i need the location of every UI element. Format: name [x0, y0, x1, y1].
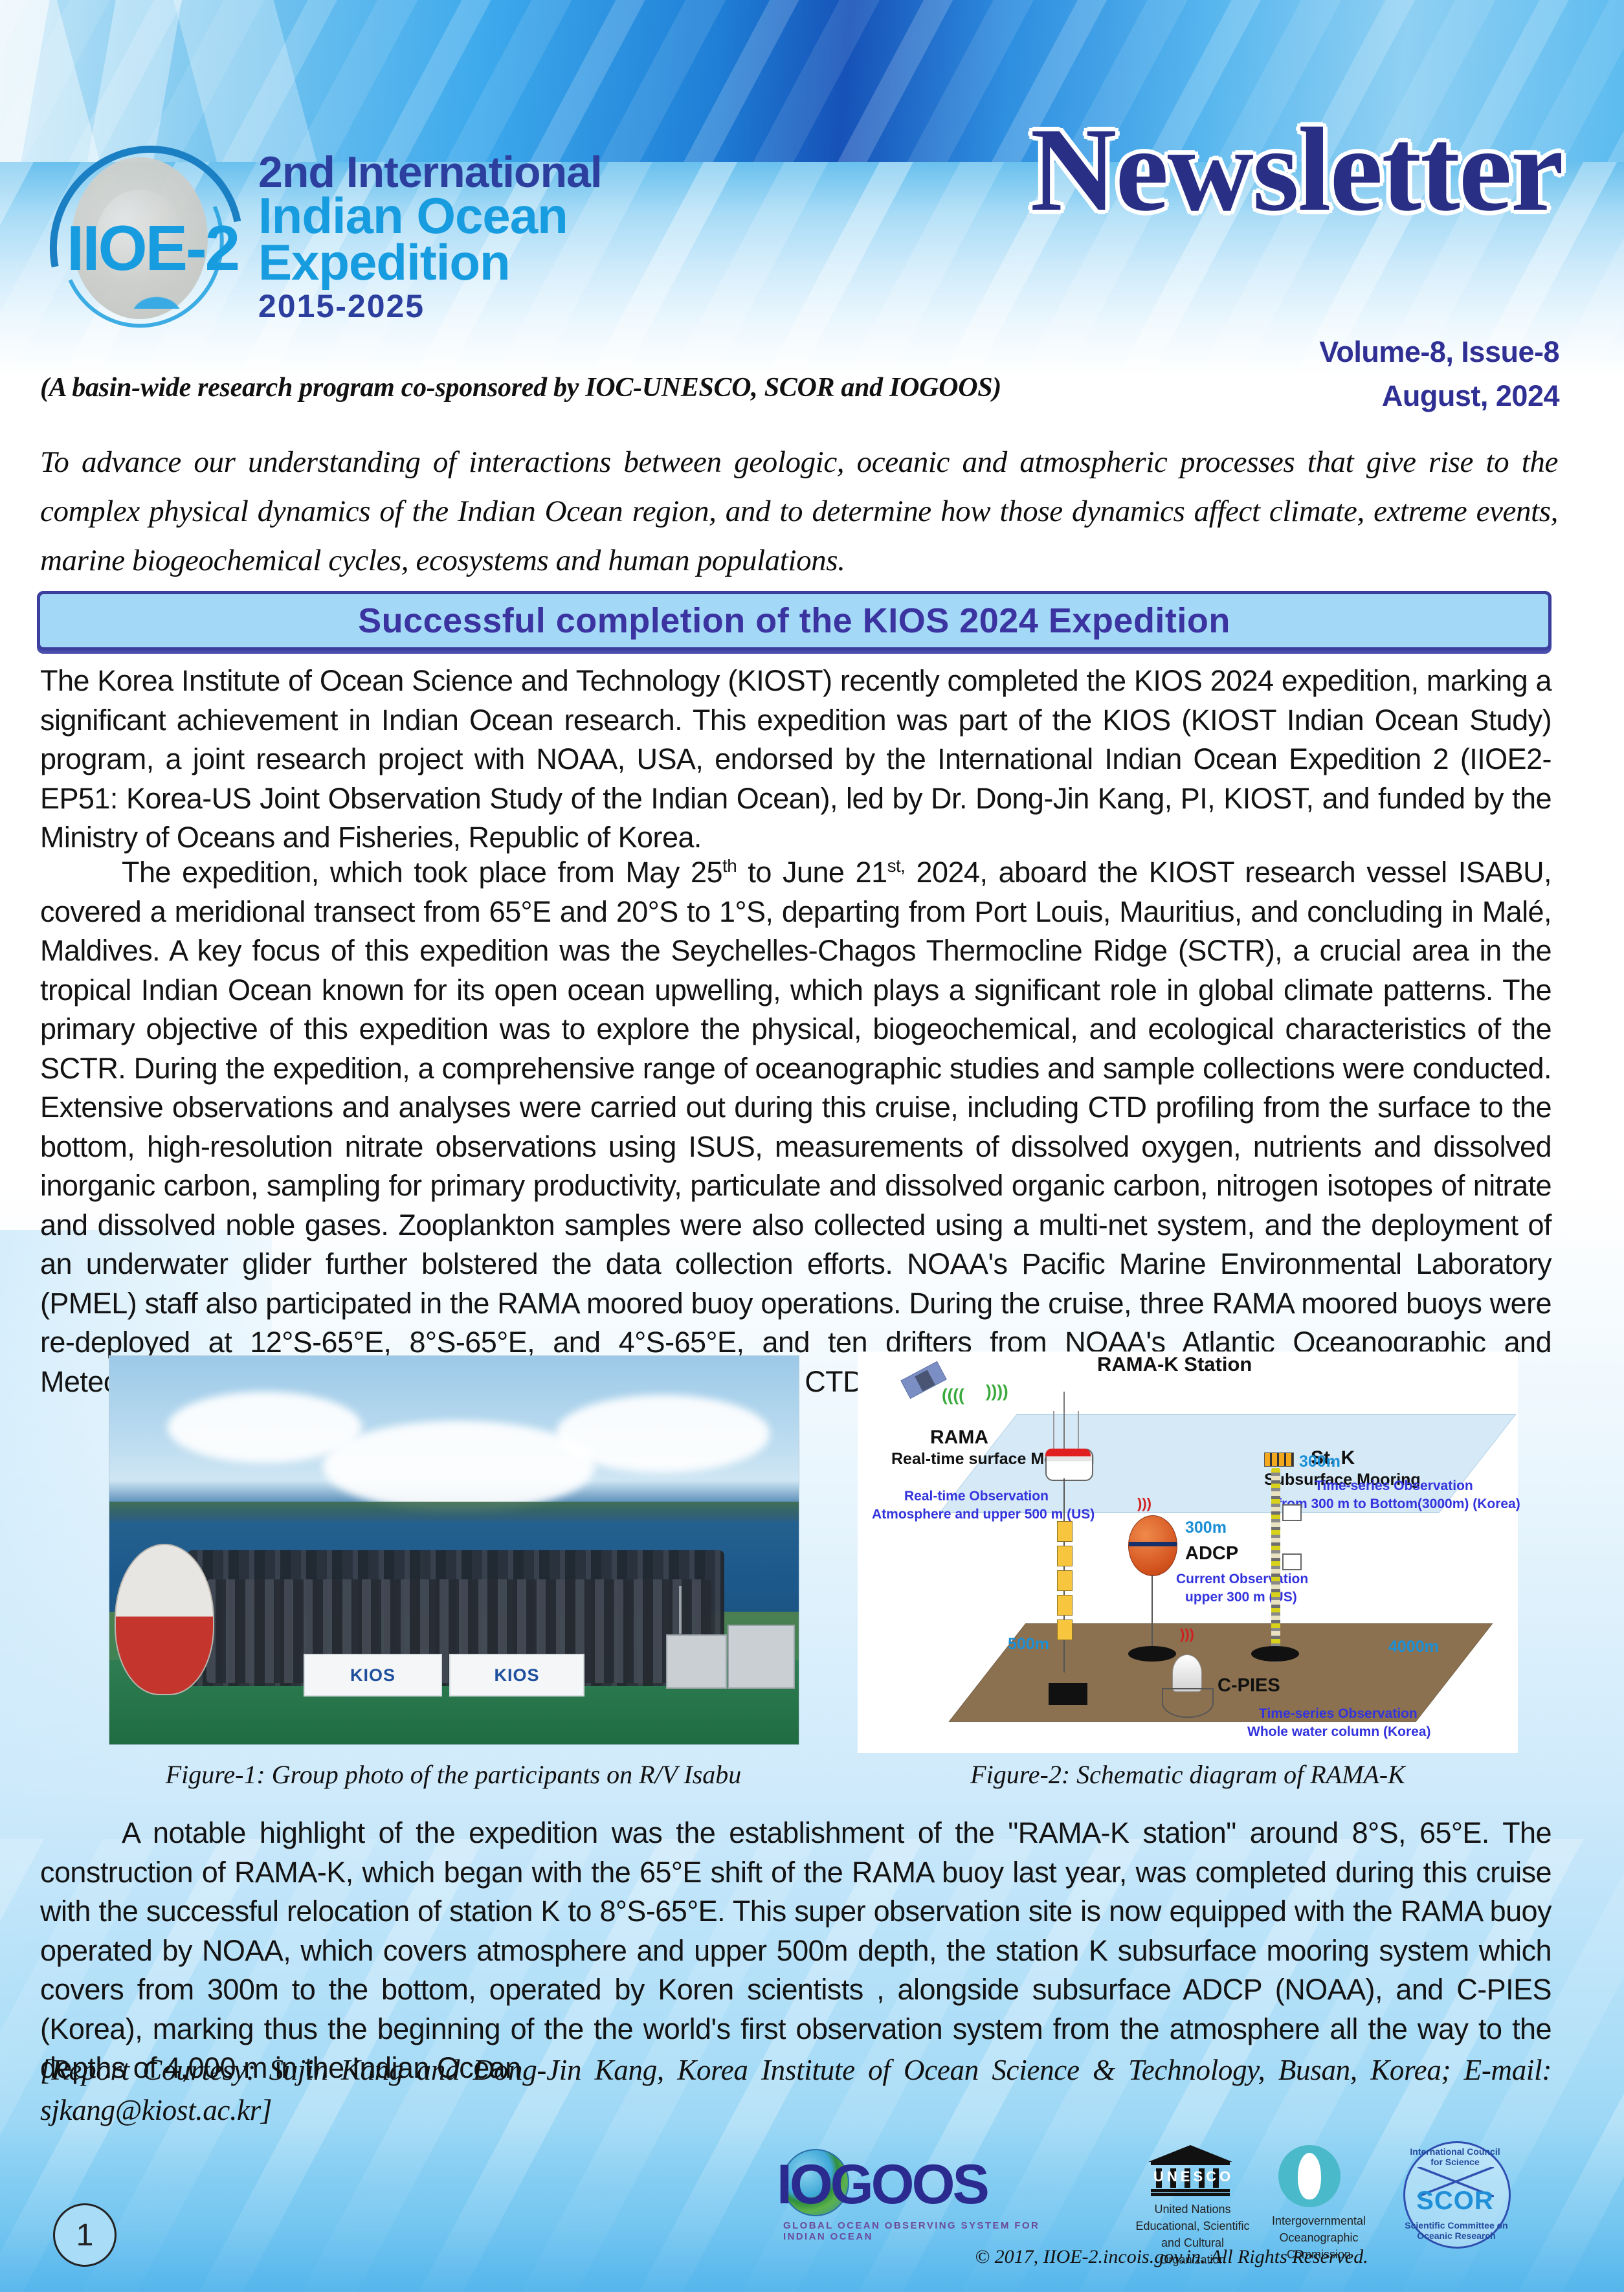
article-paragraph-3: A notable highlight of the expedition wa…	[40, 1814, 1552, 2088]
p2-part-a: The expedition, which took place from Ma…	[122, 856, 722, 889]
sponsor-line: (A basin-wide research program co-sponso…	[40, 372, 1076, 403]
adcp-signal-icon: )))	[1137, 1495, 1151, 1512]
rama-sensor-3-icon	[1057, 1570, 1073, 1591]
rama-tower-icon	[1053, 1411, 1079, 1451]
p2-part-b: to June 21	[737, 856, 887, 889]
group-photo-image: KIOS KIOS	[109, 1355, 799, 1745]
cpies-frame-icon	[1162, 1688, 1214, 1718]
unesco-logo: UNESCO United Nations Educational, Scien…	[1139, 2145, 1246, 2242]
ioc-logo: Intergovernmental Oceanographic Commissi…	[1259, 2145, 1379, 2242]
copyright-text: © 2017, IIOE-2.incois.gov.in. All Rights…	[777, 2246, 1566, 2268]
station-k-observation-line-2: from 300 m to Bottom(3000m) (Korea)	[1277, 1496, 1520, 1512]
figure-1: KIOS KIOS	[109, 1355, 798, 1744]
adcp-anchor-icon	[1128, 1646, 1176, 1662]
iioe2-logo-mark: IIOE-2	[36, 139, 249, 333]
report-courtesy: [Report Courtesy: Sujin Kang and Dong-Ji…	[40, 2050, 1552, 2130]
masthead-title: Newsletter	[1030, 110, 1563, 230]
rama-sensor-2-icon	[1057, 1546, 1073, 1566]
adcp-mooring-line	[1151, 1575, 1153, 1651]
article-banner: Successful completion of the KIOS 2024 E…	[37, 591, 1552, 651]
p2-superscript-th: th	[722, 856, 737, 876]
station-k-anchor-icon	[1251, 1646, 1299, 1662]
cpies-device-icon	[1172, 1654, 1202, 1692]
adcp-depth-label: 300m	[1185, 1519, 1227, 1537]
logo-line-3: Expedition	[258, 237, 602, 287]
scor-top-text: International Council for Science	[1403, 2146, 1507, 2167]
page-header: IIOE-2 2nd International Indian Ocean Ex…	[0, 0, 1624, 414]
wave-icon	[108, 279, 205, 309]
iioe2-logo: IIOE-2 2nd International Indian Ocean Ex…	[36, 129, 761, 343]
figure-2: RAMA-K Station (((( )))) RAMA Real-time …	[858, 1352, 1518, 1753]
rama-observation-line-1: Real-time Observation	[904, 1489, 1049, 1504]
scor-logo: International Council for Science SCOR S…	[1398, 2136, 1518, 2249]
rama-k-schematic: RAMA-K Station (((( )))) RAMA Real-time …	[858, 1352, 1518, 1753]
photo-buoy	[115, 1544, 214, 1695]
adcp-float-icon	[1128, 1515, 1177, 1576]
logo-years: 2015-2025	[258, 290, 602, 322]
rama-observation-line-2: Atmosphere and upper 500 m (US)	[872, 1507, 1095, 1522]
station-k-instrument-chain	[1271, 1468, 1280, 1662]
satellite-signal-left-icon: ((((	[942, 1385, 964, 1405]
scor-wordmark: SCOR	[1403, 2186, 1507, 2216]
kios-banner-left: KIOS	[304, 1654, 442, 1697]
cpies-observation-line-2: Whole water column (Korea)	[1247, 1724, 1431, 1740]
adcp-label: ADCP	[1185, 1543, 1238, 1564]
station-k-instrument-1-icon	[1282, 1504, 1302, 1521]
volume-issue-block: Volume-8, Issue-8 August, 2024	[1319, 330, 1559, 417]
article-paragraph-1: The Korea Institute of Ocean Science and…	[40, 662, 1552, 858]
satellite-signal-right-icon: ))))	[986, 1381, 1008, 1401]
figure-2-caption: Figure-2: Schematic diagram of RAMA-K	[858, 1759, 1518, 1790]
cpies-signal-icon: )))	[1180, 1626, 1194, 1643]
iogoos-wordmark: IOGOOS	[777, 2153, 1074, 2217]
p2-superscript-st: st,	[887, 856, 906, 876]
rama-anchor-weight-icon	[1049, 1683, 1087, 1705]
iogoos-logo: IOGOOS GLOBAL OCEAN OBSERVING SYSTEM FOR…	[777, 2141, 1074, 2238]
footer-logo-row: IOGOOS GLOBAL OCEAN OBSERVING SYSTEM FOR…	[777, 2136, 1566, 2249]
kios-banner-right: KIOS	[449, 1654, 584, 1697]
page-number: 1	[53, 2203, 117, 2267]
figure-1-caption: Figure-1: Group photo of the participant…	[109, 1759, 798, 1790]
ioc-emblem-icon	[1298, 2153, 1321, 2199]
rama-surface-buoy-icon	[1045, 1449, 1093, 1481]
depth-500m-label: 500m	[1008, 1635, 1049, 1654]
article-paragraph-2: The expedition, which took place from Ma…	[40, 853, 1552, 1401]
p2-part-c: 2024, aboard the KIOST research vessel I…	[40, 856, 1552, 1398]
rama-sensor-5-icon	[1057, 1619, 1073, 1640]
photo-shoreline	[109, 1502, 799, 1521]
rama-sensor-4-icon	[1057, 1595, 1073, 1616]
rama-sensor-1-icon	[1057, 1521, 1073, 1542]
depth-4000m-label: 4000m	[1388, 1638, 1439, 1656]
cpies-observation-line-1: Time-series Observation	[1259, 1706, 1418, 1722]
issue-date: August, 2024	[1319, 374, 1559, 418]
station-k-instrument-2-icon	[1282, 1553, 1302, 1570]
scor-bottom-text: Scientific Committee on Oceanic Research	[1401, 2220, 1512, 2241]
rama-label: RAMA	[930, 1427, 988, 1449]
station-k-observation-line-1: Time-series Observation	[1315, 1478, 1473, 1494]
mission-statement: To advance our understanding of interact…	[40, 438, 1558, 585]
adcp-observation-line-1: Current Observation	[1176, 1572, 1308, 1587]
cpies-label: C-PIES	[1218, 1675, 1280, 1697]
iogoos-tagline: GLOBAL OCEAN OBSERVING SYSTEM FOR INDIAN…	[783, 2220, 1074, 2242]
logo-wordmark: 2nd International Indian Ocean Expeditio…	[258, 150, 602, 322]
volume-issue: Volume-8, Issue-8	[1319, 330, 1559, 374]
logo-acronym: IIOE-2	[67, 212, 261, 285]
station-k-depth-label: 300m	[1299, 1452, 1340, 1471]
schematic-title: RAMA-K Station	[1097, 1353, 1252, 1376]
unesco-wordmark: UNESCO	[1153, 2168, 1229, 2185]
newsletter-page: IIOE-2 2nd International Indian Ocean Ex…	[0, 0, 1624, 2292]
station-k-top-float-icon	[1264, 1452, 1294, 1467]
article-title: Successful completion of the KIOS 2024 E…	[358, 601, 1230, 641]
